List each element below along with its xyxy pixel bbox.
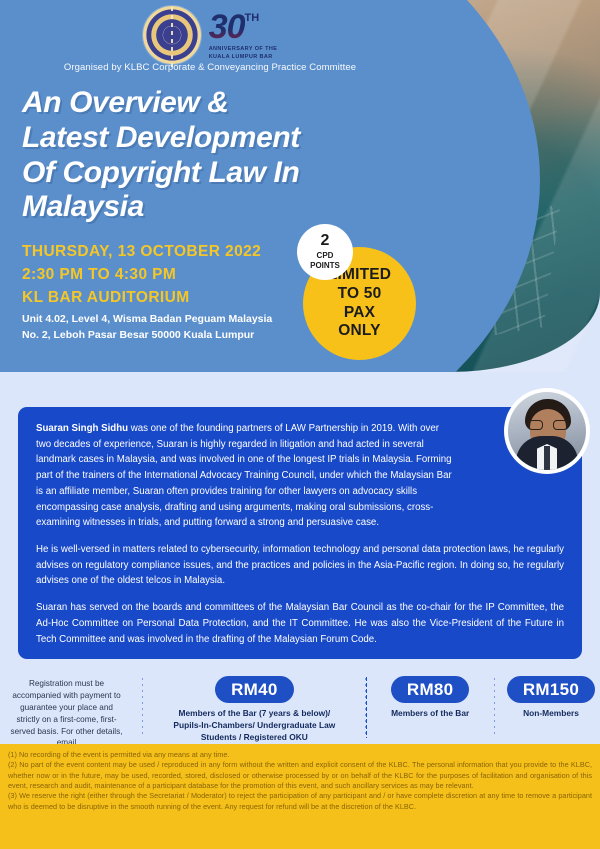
bio-paragraph-1-rest: was one of the founding partners of LAW …: [36, 423, 452, 528]
speaker-bio-card: Suaran Singh Sidhu was one of the foundi…: [18, 407, 582, 659]
cpd-number: 2: [321, 233, 330, 249]
fee-price-2: RM80: [391, 676, 470, 703]
title-line-3: Of Copyright Law In: [22, 156, 442, 191]
terms-line-2: (2) No part of the event content may be …: [8, 760, 592, 791]
fees-section: Registration must be accompanied with pa…: [0, 672, 600, 744]
fee-tier-1: RM40 Members of the Bar (7 years & below…: [150, 672, 358, 744]
title-line-1: An Overview &: [22, 86, 442, 121]
cpd-label-2: POINTS: [310, 261, 340, 270]
fee-desc-1-line-3: Students / Registered OKU: [173, 732, 335, 744]
kl-bar-crest-icon: [143, 6, 201, 64]
limited-line-3: PAX: [328, 304, 391, 323]
divider-dotted-3: [494, 676, 495, 738]
title-line-2: Latest Development: [22, 121, 442, 156]
fee-tier-3: RM150 Non-Members: [502, 672, 600, 720]
fee-desc-2: Members of the Bar: [391, 708, 469, 720]
fee-desc-3-line-1: Non-Members: [523, 708, 579, 720]
fee-tier-2: RM80 Members of the Bar: [374, 672, 487, 720]
fee-price-3: RM150: [507, 676, 595, 703]
terms-line-1: (1) No recording of the event is permitt…: [8, 750, 592, 760]
fee-desc-1-line-1: Members of the Bar (7 years & below)/: [173, 708, 335, 720]
bio-paragraph-1: Suaran Singh Sidhu was one of the foundi…: [36, 421, 456, 531]
divider-dotted-1: [142, 676, 143, 738]
logo-row: 30 TH ANNIVERSARY OF THE KUALA LUMPUR BA…: [0, 6, 420, 64]
bio-paragraph-2: He is well-versed in matters related to …: [36, 542, 564, 589]
fee-desc-2-line-1: Members of the Bar: [391, 708, 469, 720]
glasses-icon: [528, 420, 568, 430]
event-poster: © 🔒 ⚠ 👤 30 TH ANNIVERSARY OF THE KUALA L…: [0, 0, 600, 849]
cpd-points-badge: 2 CPD POINTS: [297, 224, 353, 280]
limited-line-4: ONLY: [328, 322, 391, 341]
fee-price-1: RM40: [215, 676, 294, 703]
fee-desc-1: Members of the Bar (7 years & below)/ Pu…: [173, 708, 335, 744]
divider-dotted-2: [365, 676, 366, 738]
terms-footer: (1) No recording of the event is permitt…: [0, 744, 600, 849]
fee-desc-1-line-2: Pupils-In-Chambers/ Undergraduate Law: [173, 720, 335, 732]
anniversary-line1: ANNIVERSARY OF THE: [209, 47, 278, 53]
anniversary-line2: KUALA LUMPUR BAR: [209, 55, 273, 61]
limited-line-2: TO 50: [328, 285, 391, 304]
cpd-label-1: CPD: [317, 251, 334, 261]
bio-paragraph-3: Suaran has served on the boards and comm…: [36, 600, 564, 647]
fee-desc-3: Non-Members: [523, 708, 579, 720]
terms-line-3: (3) We reserve the right (either through…: [8, 791, 592, 812]
anniversary-mark: 30 TH ANNIVERSARY OF THE KUALA LUMPUR BA…: [209, 10, 278, 61]
anniversary-number: 30: [209, 10, 245, 44]
page-title: An Overview & Latest Development Of Copy…: [22, 86, 442, 225]
speaker-avatar: [504, 388, 590, 474]
organiser-line: Organised by KLBC Corporate & Conveyanci…: [0, 62, 420, 73]
anniversary-suffix: TH: [245, 13, 260, 24]
title-line-4: Malaysia: [22, 190, 442, 225]
speaker-name: Suaran Singh Sidhu: [36, 423, 128, 434]
